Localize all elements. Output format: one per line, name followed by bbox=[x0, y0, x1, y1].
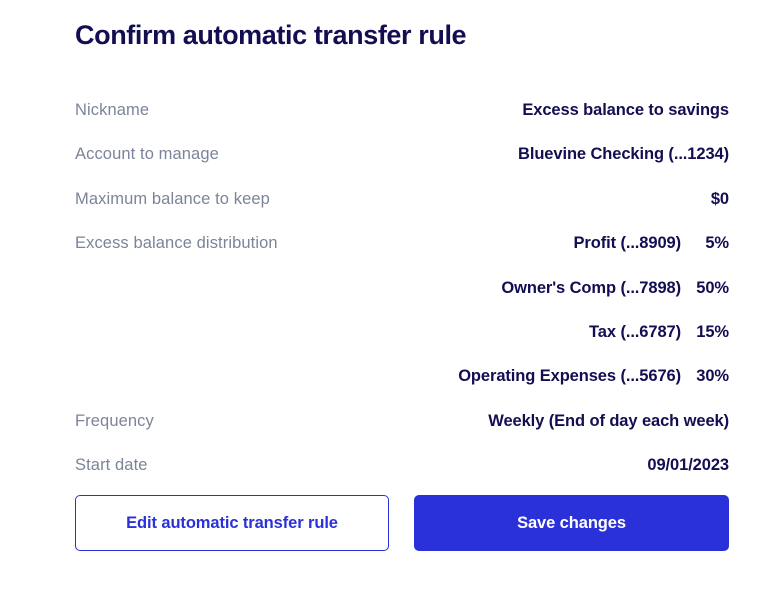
account-value: Bluevine Checking (...1234) bbox=[518, 142, 729, 164]
distribution-item-percent: 5% bbox=[681, 231, 729, 253]
summary-row-account: Account to manage Bluevine Checking (...… bbox=[75, 142, 729, 186]
max-balance-value: $0 bbox=[711, 187, 729, 209]
nickname-value: Excess balance to savings bbox=[522, 98, 729, 120]
distribution-item-percent: 15% bbox=[681, 320, 729, 342]
account-label: Account to manage bbox=[75, 142, 219, 164]
max-balance-label: Maximum balance to keep bbox=[75, 187, 270, 209]
start-date-label: Start date bbox=[75, 453, 148, 475]
save-changes-button[interactable]: Save changes bbox=[414, 495, 729, 551]
distribution-item-percent: 30% bbox=[681, 364, 729, 386]
summary-row-distribution: Excess balance distribution Profit (...8… bbox=[75, 231, 729, 409]
summary-row-max-balance: Maximum balance to keep $0 bbox=[75, 187, 729, 231]
distribution-label: Excess balance distribution bbox=[75, 231, 278, 253]
distribution-item-name: Profit (...8909) bbox=[573, 231, 681, 253]
nickname-label: Nickname bbox=[75, 98, 149, 120]
rule-summary-list: Nickname Excess balance to savings Accou… bbox=[75, 98, 729, 498]
frequency-value: Weekly (End of day each week) bbox=[488, 409, 729, 431]
frequency-label: Frequency bbox=[75, 409, 154, 431]
distribution-item: Profit (...8909) 5% bbox=[573, 231, 729, 275]
edit-automatic-transfer-rule-button[interactable]: Edit automatic transfer rule bbox=[75, 495, 389, 551]
distribution-item: Tax (...6787) 15% bbox=[589, 320, 729, 364]
action-bar: Edit automatic transfer rule Save change… bbox=[75, 495, 729, 551]
distribution-item: Operating Expenses (...5676) 30% bbox=[458, 364, 729, 408]
distribution-item: Owner's Comp (...7898) 50% bbox=[501, 276, 729, 320]
summary-row-frequency: Frequency Weekly (End of day each week) bbox=[75, 409, 729, 453]
summary-row-start-date: Start date 09/01/2023 bbox=[75, 453, 729, 497]
distribution-item-name: Owner's Comp (...7898) bbox=[501, 276, 681, 298]
distribution-item-percent: 50% bbox=[681, 276, 729, 298]
summary-row-nickname: Nickname Excess balance to savings bbox=[75, 98, 729, 142]
page-title: Confirm automatic transfer rule bbox=[75, 20, 466, 51]
start-date-value: 09/01/2023 bbox=[647, 453, 729, 475]
distribution-item-name: Operating Expenses (...5676) bbox=[458, 364, 681, 386]
confirm-transfer-rule-page: Confirm automatic transfer rule Nickname… bbox=[0, 0, 781, 601]
distribution-item-name: Tax (...6787) bbox=[589, 320, 681, 342]
distribution-list: Profit (...8909) 5% Owner's Comp (...789… bbox=[458, 231, 729, 409]
